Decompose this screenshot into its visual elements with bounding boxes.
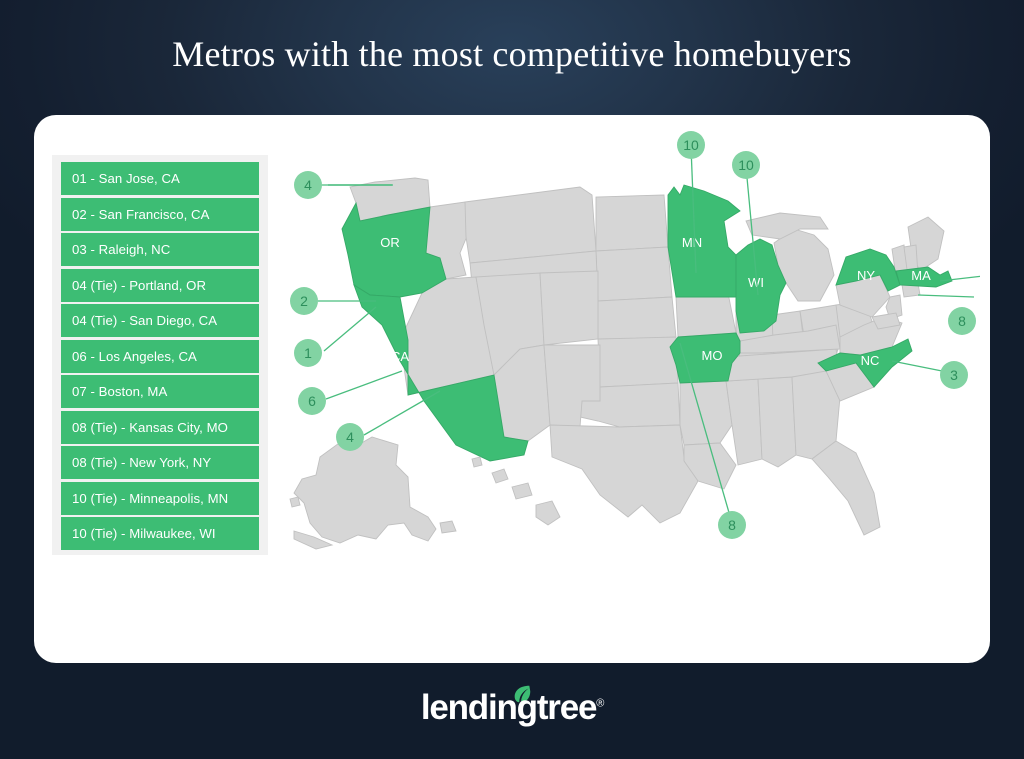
legend-item-label: 10 (Tie) - Milwaukee, WI	[72, 526, 216, 541]
list-item[interactable]: 04 (Tie) - San Diego, CA	[61, 304, 259, 337]
lendingtree-logo[interactable]: lendingtree®	[0, 688, 1024, 728]
page-title: Metros with the most competitive homebuy…	[0, 33, 1024, 75]
legend-item-label: 07 - Boston, MA	[72, 384, 167, 399]
list-item[interactable]: 07 - Boston, MA	[61, 375, 259, 408]
pin-rank-label: 6	[308, 393, 316, 409]
pin-rank-label: 2	[300, 293, 308, 309]
map-pin-10-minneapolis[interactable]: 10	[677, 131, 705, 159]
state-label-MN: MN	[682, 235, 702, 250]
legend-item-label: 04 (Tie) - San Diego, CA	[72, 313, 217, 328]
state-label-NC: NC	[861, 353, 880, 368]
pin-rank-label: 1	[304, 345, 312, 361]
state-label-MA: MA	[911, 268, 931, 283]
list-item[interactable]: 08 (Tie) - New York, NY	[61, 446, 259, 479]
pin-rank-label: 4	[346, 429, 354, 445]
pin-rank-label: 8	[728, 517, 736, 533]
us-map[interactable]: OR CA MN WI MO NY MA NC	[280, 125, 980, 655]
map-pin-8-kansas-city[interactable]: 8	[718, 511, 746, 539]
legend-item-label: 04 (Tie) - Portland, OR	[72, 278, 206, 293]
map-pin-4-portland[interactable]: 4	[294, 171, 322, 199]
list-item[interactable]: 01 - San Jose, CA	[61, 162, 259, 195]
list-item[interactable]: 02 - San Francisco, CA	[61, 198, 259, 231]
logo-wordmark: lendingtree	[421, 688, 596, 727]
legend-item-label: 06 - Los Angeles, CA	[72, 349, 197, 364]
legend-item-label: 03 - Raleigh, NC	[72, 242, 170, 257]
state-label-OR: OR	[380, 235, 400, 250]
legend-item-label: 01 - San Jose, CA	[72, 171, 180, 186]
map-pin-3-raleigh[interactable]: 3	[940, 361, 968, 389]
state-MN[interactable]	[668, 185, 740, 297]
list-item[interactable]: 10 (Tie) - Milwaukee, WI	[61, 517, 259, 550]
list-item[interactable]: 06 - Los Angeles, CA	[61, 340, 259, 373]
state-label-NY: NY	[857, 268, 875, 283]
map-pin-1-san-jose[interactable]: 1	[294, 339, 322, 367]
list-item[interactable]: 10 (Tie) - Minneapolis, MN	[61, 482, 259, 515]
list-item[interactable]: 04 (Tie) - Portland, OR	[61, 269, 259, 302]
pin-rank-label: 10	[683, 137, 699, 153]
legend-item-label: 02 - San Francisco, CA	[72, 207, 209, 222]
list-item[interactable]: 08 (Tie) - Kansas City, MO	[61, 411, 259, 444]
pin-rank-label: 10	[738, 157, 754, 173]
registered-mark: ®	[596, 697, 603, 709]
state-label-MO: MO	[702, 348, 723, 363]
pin-rank-label: 4	[304, 177, 312, 193]
pin-rank-label: 3	[950, 367, 958, 383]
legend-item-label: 08 (Tie) - Kansas City, MO	[72, 420, 228, 435]
content-card: 01 - San Jose, CA 02 - San Francisco, CA…	[34, 115, 990, 663]
pin-rank-label: 8	[958, 313, 966, 329]
ranking-legend: 01 - San Jose, CA 02 - San Francisco, CA…	[52, 155, 268, 555]
map-pin-8-new-york[interactable]: 8	[948, 307, 976, 335]
list-item[interactable]: 03 - Raleigh, NC	[61, 233, 259, 266]
legend-item-label: 08 (Tie) - New York, NY	[72, 455, 211, 470]
legend-item-label: 10 (Tie) - Minneapolis, MN	[72, 491, 228, 506]
map-pin-4-san-diego[interactable]: 4	[336, 423, 364, 451]
map-pin-6-los-angeles[interactable]: 6	[298, 387, 326, 415]
map-pin-2-san-francisco[interactable]: 2	[290, 287, 318, 315]
map-pin-10-milwaukee[interactable]: 10	[732, 151, 760, 179]
state-label-CA: CA	[391, 349, 409, 364]
